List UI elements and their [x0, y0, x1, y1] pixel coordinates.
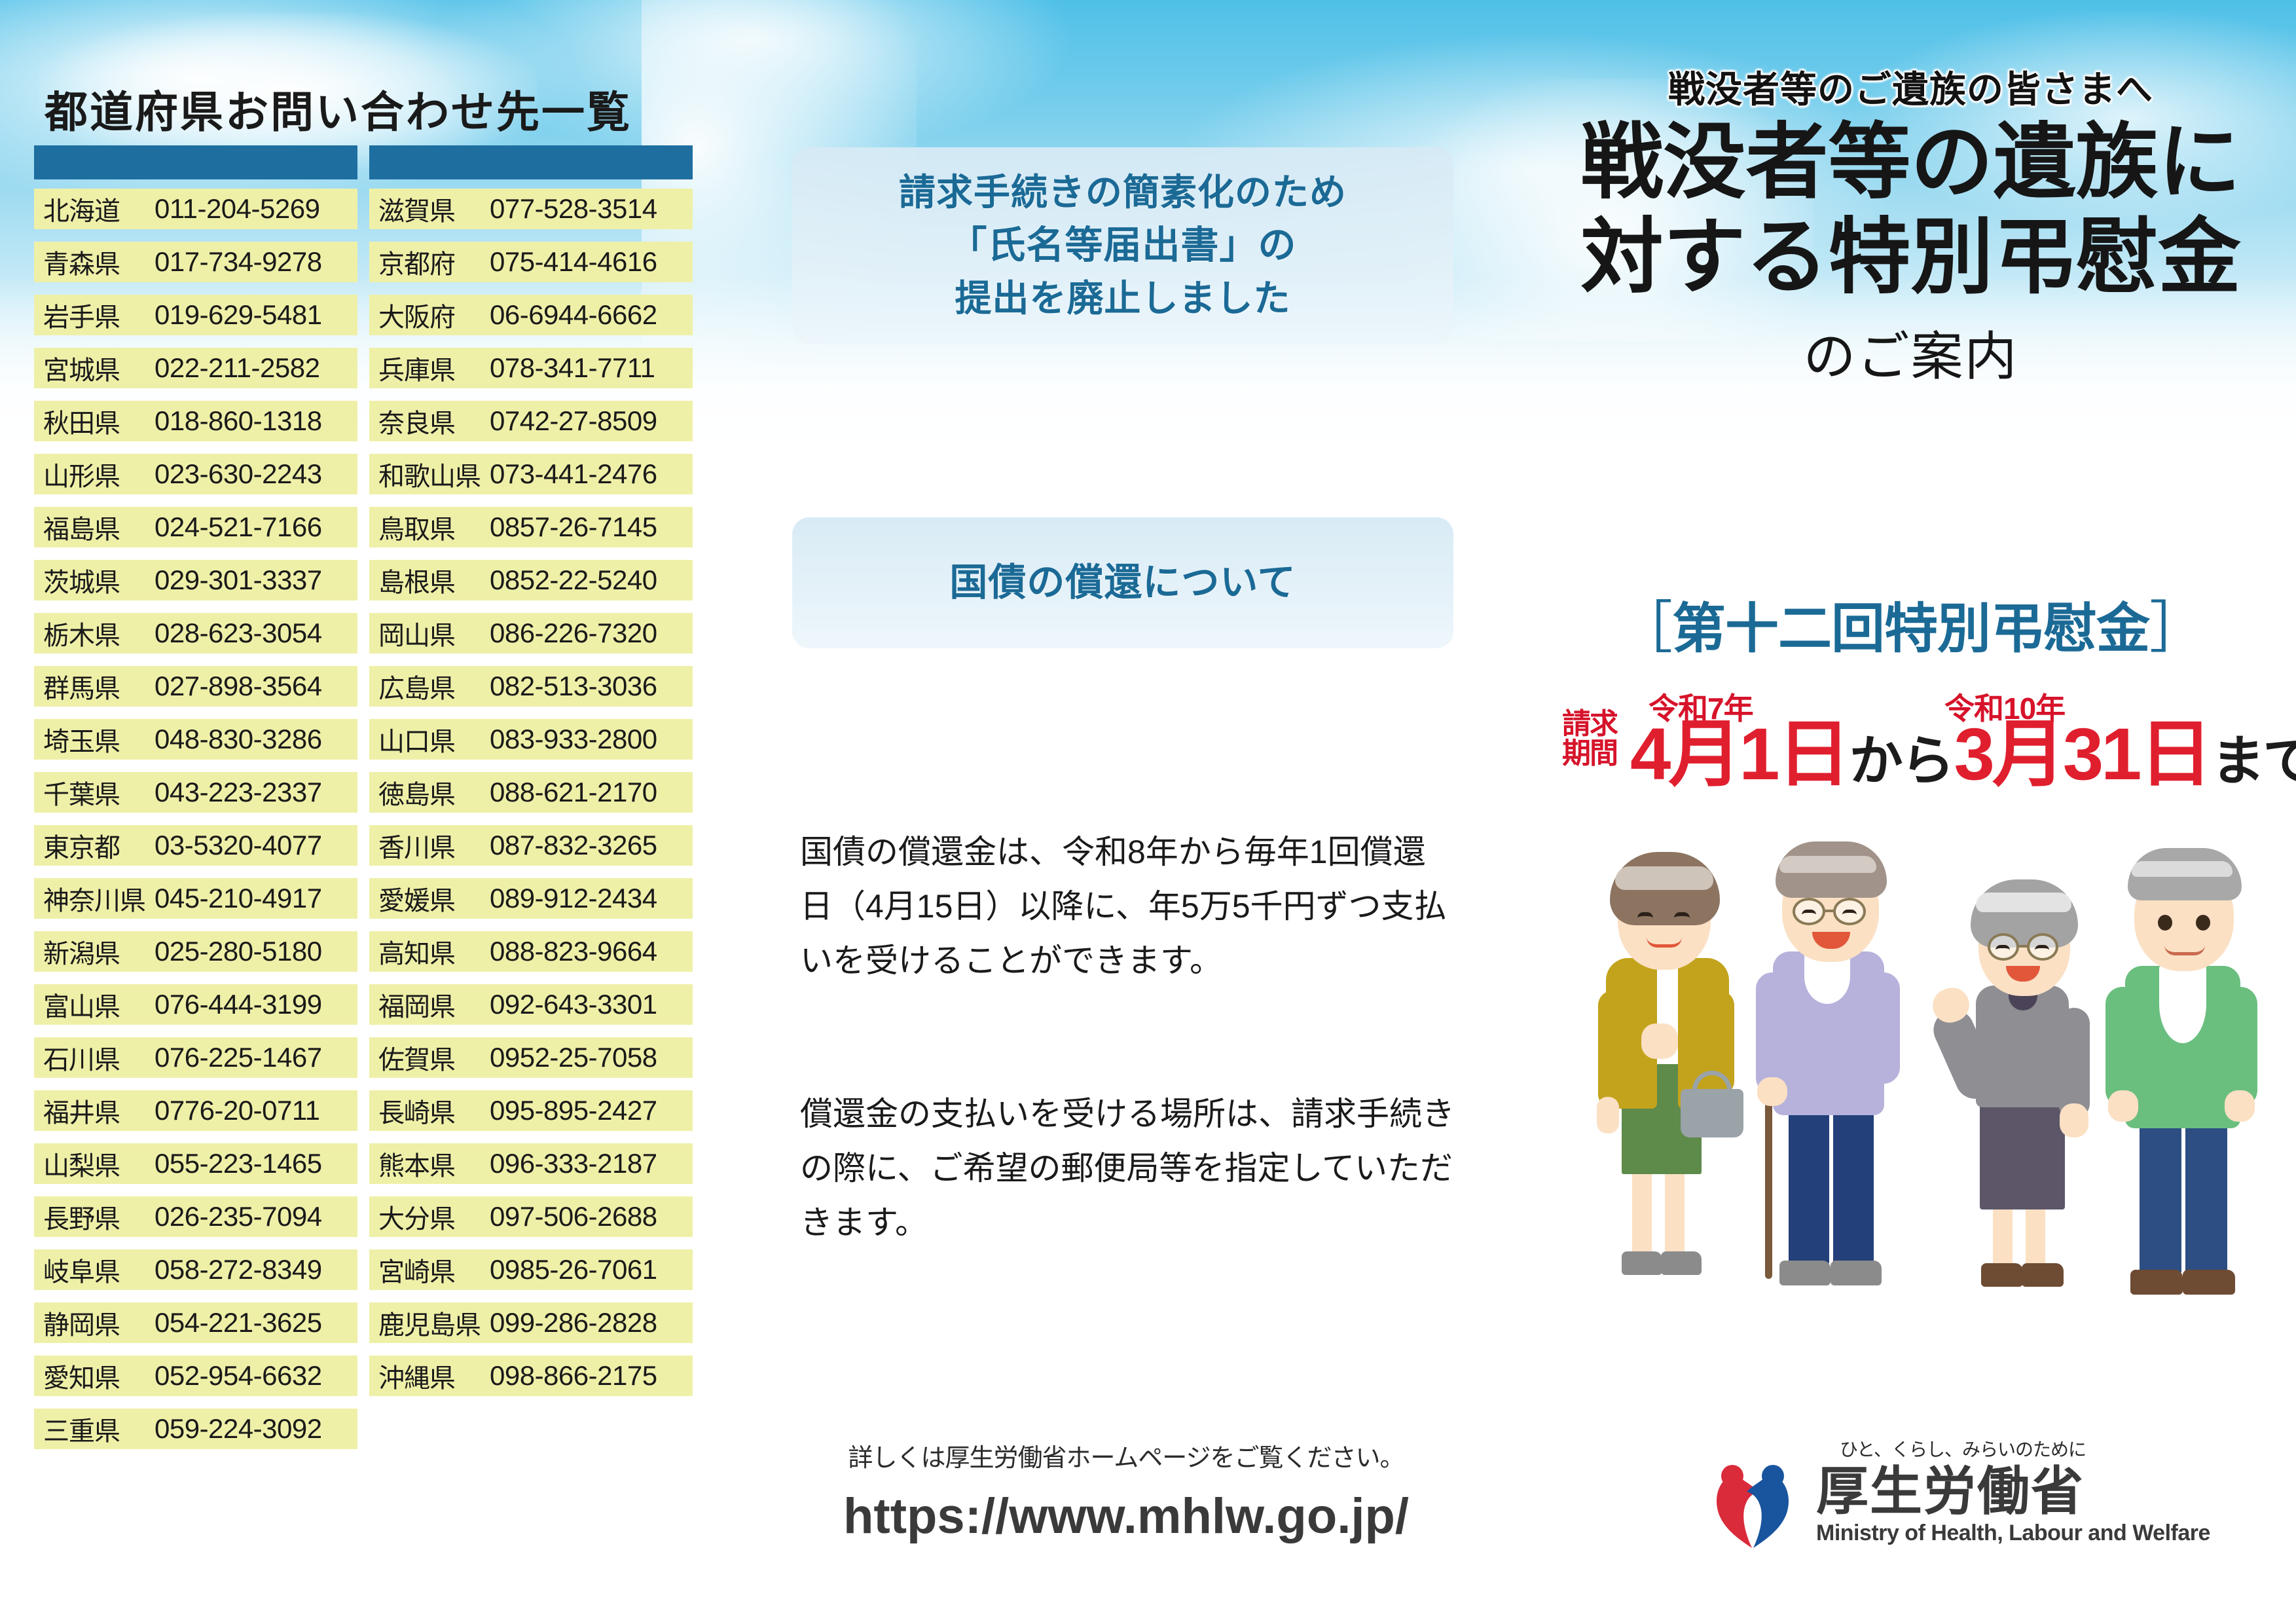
prefecture-row[interactable]: 福井県0776-20-0711 — [34, 1090, 357, 1131]
prefecture-row[interactable]: 愛媛県089-912-2434 — [369, 878, 693, 919]
prefecture-row[interactable]: 栃木県028-623-3054 — [34, 613, 357, 654]
prefecture-row[interactable]: 山口県083-933-2800 — [369, 719, 693, 760]
mhlw-tagline: ひと、くらし、みらいのために — [1840, 1435, 2222, 1462]
prefecture-name: 鹿児島県 — [378, 1304, 490, 1342]
bond-paragraph-1: 国債の償還金は、令和8年から毎年1回償還日（4月15日）以降に、年5万5千円ずつ… — [800, 825, 1455, 988]
prefecture-name: 岐阜県 — [43, 1251, 155, 1289]
prefecture-phone-number: 028-623-3054 — [155, 618, 322, 649]
claim-period-date-end: 3月31日 — [1954, 718, 2210, 791]
prefecture-name: 埼玉県 — [43, 720, 155, 758]
prefecture-phone-number: 083-933-2800 — [490, 724, 657, 755]
prefecture-name: 長野県 — [43, 1198, 155, 1236]
prefecture-name: 富山県 — [43, 986, 155, 1024]
prefecture-name: 茨城県 — [43, 561, 155, 599]
prefecture-row[interactable]: 新潟県025-280-5180 — [34, 931, 357, 972]
prefecture-row[interactable]: 山形県023-630-2243 — [34, 454, 357, 494]
prefecture-row[interactable]: 奈良県0742-27-8509 — [369, 401, 693, 441]
prefecture-name: 宮崎県 — [378, 1251, 490, 1289]
prefecture-phone-number: 018-860-1318 — [155, 405, 322, 437]
cover-subtitle: のご案内 — [1525, 314, 2296, 390]
claim-period-label-line1: 請求 — [1557, 710, 1622, 739]
prefecture-table-title: 都道府県お問い合わせ先一覧 — [45, 77, 632, 140]
bracket-close-icon: ］ — [2149, 597, 2205, 659]
prefecture-row[interactable]: 香川県087-832-3265 — [369, 825, 693, 866]
prefecture-row[interactable]: 秋田県018-860-1318 — [34, 401, 357, 441]
prefecture-phone-number: 045-210-4917 — [155, 883, 322, 914]
prefecture-phone-number: 088-823-9664 — [490, 936, 657, 967]
figure-elderly-woman-grey — [1939, 843, 2109, 1301]
figure-elderly-man-lavender — [1741, 821, 1925, 1299]
claim-period-date-start: 4月1日 — [1630, 718, 1848, 791]
prefecture-row[interactable]: 千葉県043-223-2337 — [34, 772, 357, 813]
claim-period-connector: から — [1848, 735, 1954, 791]
prefecture-name: 千葉県 — [43, 773, 155, 811]
prefecture-name: 広島県 — [378, 667, 490, 705]
table-header-bar-right — [369, 145, 693, 179]
prefecture-phone-number: 076-225-1467 — [155, 1042, 322, 1073]
prefecture-name: 北海道 — [43, 190, 155, 228]
prefecture-name: 滋賀県 — [378, 190, 490, 228]
prefecture-phone-number: 055-223-1465 — [155, 1148, 322, 1179]
prefecture-phone-number: 022-211-2582 — [155, 352, 319, 384]
prefecture-phone-number: 023-630-2243 — [155, 458, 322, 490]
prefecture-phone-number: 0952-25-7058 — [490, 1042, 657, 1073]
prefecture-phone-number: 024-521-7166 — [155, 511, 322, 543]
prefecture-phone-number: 0985-26-7061 — [490, 1254, 657, 1285]
prefecture-name: 山梨県 — [43, 1145, 155, 1183]
prefecture-row[interactable]: 福島県024-521-7166 — [34, 507, 357, 547]
prefecture-row[interactable]: 和歌山県073-441-2476 — [369, 454, 693, 494]
prefecture-phone-number: 029-301-3337 — [155, 564, 322, 596]
prefecture-phone-number: 054-221-3625 — [155, 1307, 322, 1338]
prefecture-phone-number: 048-830-3286 — [155, 724, 322, 755]
mhlw-logo-mark-icon — [1704, 1447, 1802, 1552]
bond-redemption-heading-box: 国債の償還について — [792, 517, 1453, 648]
prefecture-phone-number: 0742-27-8509 — [490, 405, 657, 437]
prefecture-phone-number: 098-866-2175 — [490, 1360, 657, 1392]
prefecture-row[interactable]: 茨城県029-301-3337 — [34, 560, 357, 600]
prefecture-name: 三重県 — [43, 1410, 155, 1448]
prefecture-name: 島根県 — [378, 561, 490, 599]
round-heading-text: 第十二回特別弔慰金 — [1672, 599, 2149, 659]
prefecture-row[interactable]: 島根県0852-22-5240 — [369, 560, 693, 600]
prefecture-row[interactable]: 埼玉県048-830-3286 — [34, 719, 357, 760]
prefecture-row[interactable]: 静岡県054-221-3625 — [34, 1302, 357, 1343]
notice-line-2: 「氏名等届出書」の — [949, 219, 1296, 272]
prefecture-phone-number: 088-621-2170 — [490, 777, 657, 808]
prefecture-row[interactable]: 岩手県019-629-5481 — [34, 295, 357, 335]
prefecture-name: 福島県 — [43, 508, 155, 546]
prefecture-row[interactable]: 徳島県088-621-2170 — [369, 772, 693, 813]
prefecture-phone-number: 086-226-7320 — [490, 618, 657, 649]
prefecture-row[interactable]: 東京都03-5320-4077 — [34, 825, 357, 866]
prefecture-phone-number: 052-954-6632 — [155, 1360, 322, 1392]
notice-line-3: 提出を廃止しました — [955, 272, 1291, 325]
prefecture-name: 愛知県 — [43, 1357, 155, 1395]
prefecture-name: 山形県 — [43, 455, 155, 493]
prefecture-name: 東京都 — [43, 826, 155, 864]
prefecture-row[interactable]: 石川県076-225-1467 — [34, 1037, 357, 1078]
prefecture-row[interactable]: 岡山県086-226-7320 — [369, 613, 693, 654]
mhlw-url-link[interactable]: https://www.mhlw.go.jp/ — [759, 1488, 1493, 1545]
prefecture-row[interactable]: 長野県026-235-7094 — [34, 1196, 357, 1237]
prefecture-row[interactable]: 大分県097-506-2688 — [369, 1196, 693, 1237]
prefecture-name: 福岡県 — [378, 986, 490, 1024]
claim-period-block: 請求 期間 令和7年 令和10年 4月1日 から 3月31日 まで — [1552, 681, 2296, 805]
prefecture-phone-number: 099-286-2828 — [490, 1307, 657, 1338]
prefecture-name: 静岡県 — [43, 1304, 155, 1342]
prefecture-phone-number: 075-414-4616 — [490, 246, 657, 278]
table-header-bar-left — [34, 145, 357, 179]
prefecture-row[interactable]: 北海道011-204-5269 — [34, 189, 357, 229]
website-footnote: 詳しくは厚生労働省ホームページをご覧ください。 — [759, 1437, 1493, 1473]
prefecture-row[interactable]: 愛知県052-954-6632 — [34, 1356, 357, 1396]
prefecture-row[interactable]: 宮城県022-211-2582 — [34, 348, 357, 388]
figure-elderly-man-green — [2094, 830, 2277, 1301]
bond-redemption-heading: 国債の償還について — [949, 556, 1296, 610]
notice-line-1: 請求手続きの簡素化のため — [899, 166, 1347, 219]
round-heading: ［第十二回特別弔慰金］ — [1525, 581, 2296, 663]
cover-title-line-1: 戦没者等の遺族に — [1525, 121, 2296, 204]
prefecture-name: 香川県 — [378, 826, 490, 864]
claim-period-suffix: まで — [2210, 735, 2296, 791]
prefecture-phone-number: 058-272-8349 — [155, 1254, 322, 1285]
prefecture-row[interactable]: 高知県088-823-9664 — [369, 931, 693, 972]
cover-title-line-2: 対する特別弔慰金 — [1525, 216, 2296, 299]
prefecture-phone-number: 097-506-2688 — [490, 1201, 657, 1232]
prefecture-name: 高知県 — [378, 932, 490, 970]
prefecture-row[interactable]: 福岡県092-643-3301 — [369, 984, 693, 1025]
prefecture-name: 宮城県 — [43, 349, 155, 387]
prefecture-phone-number: 019-629-5481 — [155, 299, 322, 331]
prefecture-name: 岩手県 — [43, 296, 155, 334]
prefecture-phone-number: 092-643-3301 — [490, 989, 657, 1020]
prefecture-phone-number: 082-513-3036 — [490, 671, 657, 702]
prefecture-row[interactable]: 鳥取県0857-26-7145 — [369, 507, 693, 547]
prefecture-name: 山口県 — [378, 720, 490, 758]
prefecture-phone-number: 0776-20-0711 — [155, 1095, 319, 1126]
prefecture-phone-number: 06-6944-6662 — [490, 299, 657, 331]
prefecture-row[interactable]: 滋賀県077-528-3514 — [369, 189, 693, 229]
prefecture-name: 群馬県 — [43, 667, 155, 705]
prefecture-phone-number: 027-898-3564 — [155, 671, 322, 702]
prefecture-contact-panel: 都道府県お問い合わせ先一覧 北海道011-204-5269青森県017-734-… — [0, 0, 740, 1624]
prefecture-name: 和歌山県 — [378, 455, 490, 493]
prefecture-row[interactable]: 鹿児島県099-286-2828 — [369, 1302, 693, 1343]
prefecture-phone-number: 078-341-7711 — [490, 352, 655, 384]
prefecture-name: 大阪府 — [378, 296, 490, 334]
figure-elderly-woman-mustard — [1581, 827, 1751, 1299]
notice-box-simplification: 請求手続きの簡素化のため 「氏名等届出書」の 提出を廃止しました — [792, 147, 1453, 344]
cover-panel: 戦没者等のご遺族の皆さまへ 戦没者等の遺族に 対する特別弔慰金 のご案内 ［第十… — [1525, 0, 2296, 1624]
prefecture-phone-number: 076-444-3199 — [155, 989, 322, 1020]
mhlw-logo: ひと、くらし、みらいのために 厚生労働省 Ministry of Health,… — [1704, 1435, 2227, 1566]
prefecture-name: 愛媛県 — [378, 879, 490, 917]
prefecture-phone-number: 059-224-3092 — [155, 1413, 322, 1445]
brochure-page: 都道府県お問い合わせ先一覧 北海道011-204-5269青森県017-734-… — [0, 0, 2296, 1624]
prefecture-name: 長崎県 — [378, 1092, 490, 1130]
prefecture-name: 福井県 — [43, 1092, 155, 1130]
prefecture-row[interactable]: 山梨県055-223-1465 — [34, 1143, 357, 1184]
prefecture-name: 徳島県 — [378, 773, 490, 811]
prefecture-name: 鳥取県 — [378, 508, 490, 546]
prefecture-phone-number: 087-832-3265 — [490, 830, 657, 861]
prefecture-row[interactable]: 大阪府06-6944-6662 — [369, 295, 693, 335]
prefecture-name: 神奈川県 — [43, 879, 155, 917]
bond-paragraph-2: 償還金の支払いを受ける場所は、請求手続きの際に、ご希望の郵便局等を指定していただ… — [800, 1087, 1455, 1250]
mhlw-name-en: Ministry of Health, Labour and Welfare — [1816, 1521, 2222, 1546]
prefecture-row[interactable]: 熊本県096-333-2187 — [369, 1143, 693, 1184]
prefecture-phone-number: 095-895-2427 — [490, 1095, 657, 1126]
prefecture-name: 兵庫県 — [378, 349, 490, 387]
prefecture-row[interactable]: 神奈川県045-210-4917 — [34, 878, 357, 919]
prefecture-row-empty — [369, 1409, 693, 1449]
prefecture-row[interactable]: 沖縄県098-866-2175 — [369, 1356, 693, 1396]
prefecture-name: 大分県 — [378, 1198, 490, 1236]
bracket-open-icon: ［ — [1616, 597, 1672, 659]
prefecture-phone-number: 03-5320-4077 — [155, 830, 322, 861]
prefecture-phone-number: 089-912-2434 — [490, 883, 657, 914]
prefecture-row[interactable]: 群馬県027-898-3564 — [34, 666, 357, 707]
prefecture-row[interactable]: 長崎県095-895-2427 — [369, 1090, 693, 1131]
prefecture-row[interactable]: 広島県082-513-3036 — [369, 666, 693, 707]
prefecture-phone-number: 017-734-9278 — [155, 246, 322, 278]
information-panel: 請求手続きの簡素化のため 「氏名等届出書」の 提出を廃止しました 国債の償還につ… — [759, 0, 1493, 1624]
prefecture-row[interactable]: 兵庫県078-341-7711 — [369, 348, 693, 388]
prefecture-phone-number: 077-528-3514 — [490, 193, 657, 225]
prefecture-phone-number: 043-223-2337 — [155, 777, 322, 808]
prefecture-phone-number: 073-441-2476 — [490, 458, 657, 490]
table-header-bars — [34, 145, 704, 179]
prefecture-phone-number: 026-235-7094 — [155, 1201, 322, 1232]
claim-period-label: 請求 期間 — [1557, 710, 1622, 769]
prefecture-row[interactable]: 宮崎県0985-26-7061 — [369, 1249, 693, 1290]
prefecture-name: 佐賀県 — [378, 1039, 490, 1077]
prefecture-name: 京都府 — [378, 243, 490, 281]
mhlw-name-jp: 厚生労働省 — [1816, 1464, 2222, 1519]
prefecture-row[interactable]: 京都府075-414-4616 — [369, 242, 693, 282]
prefecture-row[interactable]: 岐阜県058-272-8349 — [34, 1249, 357, 1290]
prefecture-name: 新潟県 — [43, 932, 155, 970]
prefecture-row[interactable]: 佐賀県0952-25-7058 — [369, 1037, 693, 1078]
prefecture-phone-number: 0857-26-7145 — [490, 511, 657, 543]
mhlw-logo-text: ひと、くらし、みらいのために 厚生労働省 Ministry of Health,… — [1816, 1435, 2222, 1546]
prefecture-row[interactable]: 富山県076-444-3199 — [34, 984, 357, 1025]
prefecture-row[interactable]: 三重県059-224-3092 — [34, 1409, 357, 1449]
cover-eyebrow: 戦没者等のご遺族の皆さまへ — [1525, 60, 2296, 113]
prefecture-name: 石川県 — [43, 1039, 155, 1077]
claim-period-dates: 4月1日 から 3月31日 まで — [1630, 718, 2296, 791]
prefecture-name: 秋田県 — [43, 402, 155, 440]
elderly-people-illustration — [1545, 815, 2278, 1300]
prefecture-name: 熊本県 — [378, 1145, 490, 1183]
prefecture-phone-number: 096-333-2187 — [490, 1148, 657, 1179]
prefecture-phone-number: 025-280-5180 — [155, 936, 322, 967]
prefecture-name: 栃木県 — [43, 614, 155, 652]
prefecture-phone-number: 011-204-5269 — [155, 193, 319, 225]
prefecture-name: 岡山県 — [378, 614, 490, 652]
prefecture-name: 奈良県 — [378, 402, 490, 440]
prefecture-column-right: 滋賀県077-528-3514京都府075-414-4616大阪府06-6944… — [369, 189, 693, 1462]
prefecture-name: 沖縄県 — [378, 1357, 490, 1395]
prefecture-name: 青森県 — [43, 243, 155, 281]
claim-period-label-line2: 期間 — [1557, 739, 1622, 769]
prefecture-row[interactable]: 青森県017-734-9278 — [34, 242, 357, 282]
prefecture-columns: 北海道011-204-5269青森県017-734-9278岩手県019-629… — [34, 189, 704, 1462]
prefecture-phone-number: 0852-22-5240 — [490, 564, 657, 596]
prefecture-column-left: 北海道011-204-5269青森県017-734-9278岩手県019-629… — [34, 189, 357, 1462]
